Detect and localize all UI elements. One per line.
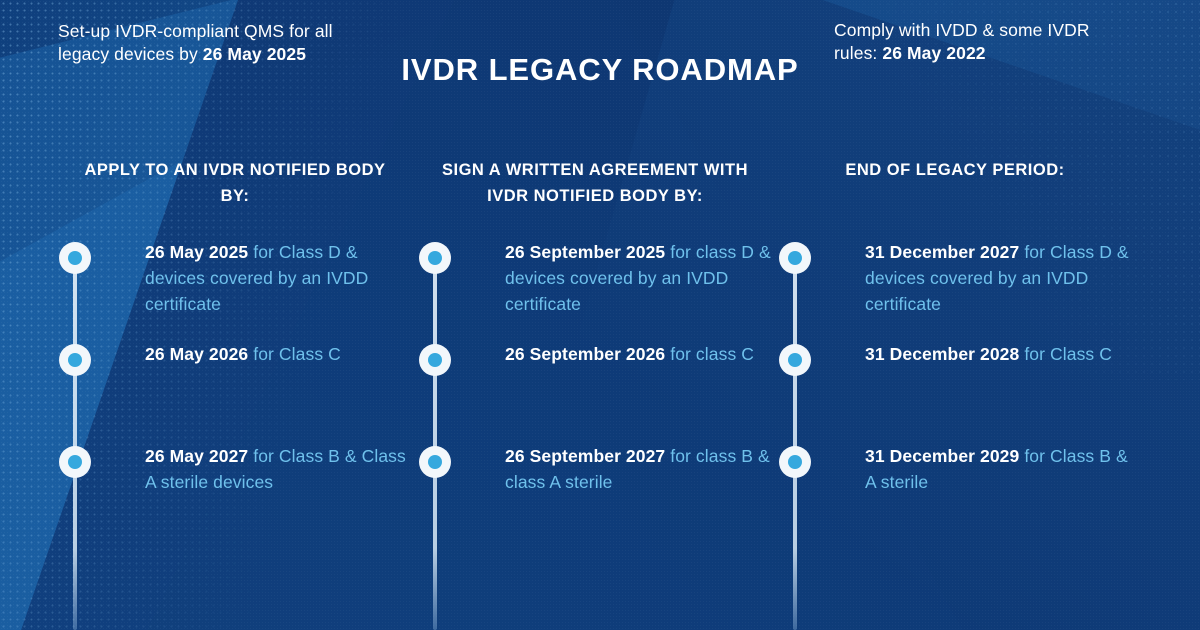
timeline-item-text: 26 September 2026 for class C — [505, 342, 775, 368]
timeline-item-date: 31 December 2029 — [865, 446, 1019, 466]
timeline-item-text: 31 December 2027 for Class D & devices c… — [865, 240, 1135, 318]
timeline-marker-icon — [419, 344, 451, 376]
timeline-marker-core-icon — [788, 455, 802, 469]
roadmap-column-legacy-end: END OF LEGACY PERIOD: 31 December 2027 f… — [775, 158, 1135, 630]
timeline-marker-icon — [779, 344, 811, 376]
roadmap-columns: APPLY TO AN IVDR NOTIFIED BODY BY: 26 Ma… — [0, 158, 1200, 630]
timeline-item-description: for Class C — [1019, 344, 1112, 364]
timeline-item-text: 31 December 2029 for Class B & A sterile — [865, 444, 1135, 496]
timeline-items-apply: 26 May 2025 for Class D & devices covere… — [55, 240, 415, 530]
timeline-marker-core-icon — [788, 353, 802, 367]
roadmap-column-apply: APPLY TO AN IVDR NOTIFIED BODY BY: 26 Ma… — [55, 158, 415, 630]
page-title: IVDR LEGACY ROADMAP — [0, 52, 1200, 88]
timeline-marker-icon — [59, 242, 91, 274]
infographic-canvas: Set-up IVDR-compliant QMS for all legacy… — [0, 0, 1200, 630]
timeline-item-text: 26 May 2027 for Class B & Class A steril… — [145, 444, 415, 496]
timeline-item-date: 26 September 2027 — [505, 446, 665, 466]
timeline-item[interactable]: 31 December 2028 for Class C — [775, 342, 1135, 428]
timeline-item-date: 31 December 2027 — [865, 242, 1019, 262]
timeline-item-date: 26 September 2025 — [505, 242, 665, 262]
timeline-marker-core-icon — [788, 251, 802, 265]
timeline-item-description: for Class C — [248, 344, 341, 364]
timeline-marker-icon — [419, 242, 451, 274]
timeline-items-agreement: 26 September 2025 for class D & devices … — [415, 240, 775, 530]
timeline-item-text: 26 May 2026 for Class C — [145, 342, 415, 368]
timeline-items-legacy-end: 31 December 2027 for Class D & devices c… — [775, 240, 1135, 530]
timeline-marker-core-icon — [68, 251, 82, 265]
timeline-marker-icon — [59, 446, 91, 478]
roadmap-column-agreement: SIGN A WRITTEN AGREEMENT WITH IVDR NOTIF… — [415, 158, 775, 630]
timeline-item-date: 26 May 2027 — [145, 446, 248, 466]
timeline-item[interactable]: 26 May 2026 for Class C — [55, 342, 415, 428]
timeline-item[interactable]: 26 May 2025 for Class D & devices covere… — [55, 240, 415, 326]
timeline-marker-core-icon — [428, 455, 442, 469]
timeline-item-date: 26 May 2025 — [145, 242, 248, 262]
timeline-item-text: 26 September 2025 for class D & devices … — [505, 240, 775, 318]
timeline-item-text: 31 December 2028 for Class C — [865, 342, 1135, 368]
timeline-item[interactable]: 26 September 2027 for class B & class A … — [415, 444, 775, 530]
timeline-item[interactable]: 31 December 2029 for Class B & A sterile — [775, 444, 1135, 530]
timeline-item-description: for class C — [665, 344, 754, 364]
timeline-marker-icon — [419, 446, 451, 478]
timeline-marker-icon — [779, 446, 811, 478]
timeline-marker-core-icon — [428, 353, 442, 367]
column-header-apply: APPLY TO AN IVDR NOTIFIED BODY BY: — [80, 158, 390, 209]
column-header-agreement: SIGN A WRITTEN AGREEMENT WITH IVDR NOTIF… — [440, 158, 750, 209]
timeline-marker-core-icon — [428, 251, 442, 265]
timeline-item-text: 26 September 2027 for class B & class A … — [505, 444, 775, 496]
timeline-marker-core-icon — [68, 353, 82, 367]
timeline-item[interactable]: 26 September 2025 for class D & devices … — [415, 240, 775, 326]
timeline-item-date: 31 December 2028 — [865, 344, 1019, 364]
column-header-legacy-end: END OF LEGACY PERIOD: — [790, 158, 1120, 184]
timeline-item[interactable]: 26 September 2026 for class C — [415, 342, 775, 428]
timeline-item-text: 26 May 2025 for Class D & devices covere… — [145, 240, 415, 318]
timeline-marker-icon — [59, 344, 91, 376]
timeline-item-date: 26 May 2026 — [145, 344, 248, 364]
timeline-item[interactable]: 26 May 2027 for Class B & Class A steril… — [55, 444, 415, 530]
timeline-item-date: 26 September 2026 — [505, 344, 665, 364]
timeline-item[interactable]: 31 December 2027 for Class D & devices c… — [775, 240, 1135, 326]
timeline-marker-core-icon — [68, 455, 82, 469]
timeline-marker-icon — [779, 242, 811, 274]
